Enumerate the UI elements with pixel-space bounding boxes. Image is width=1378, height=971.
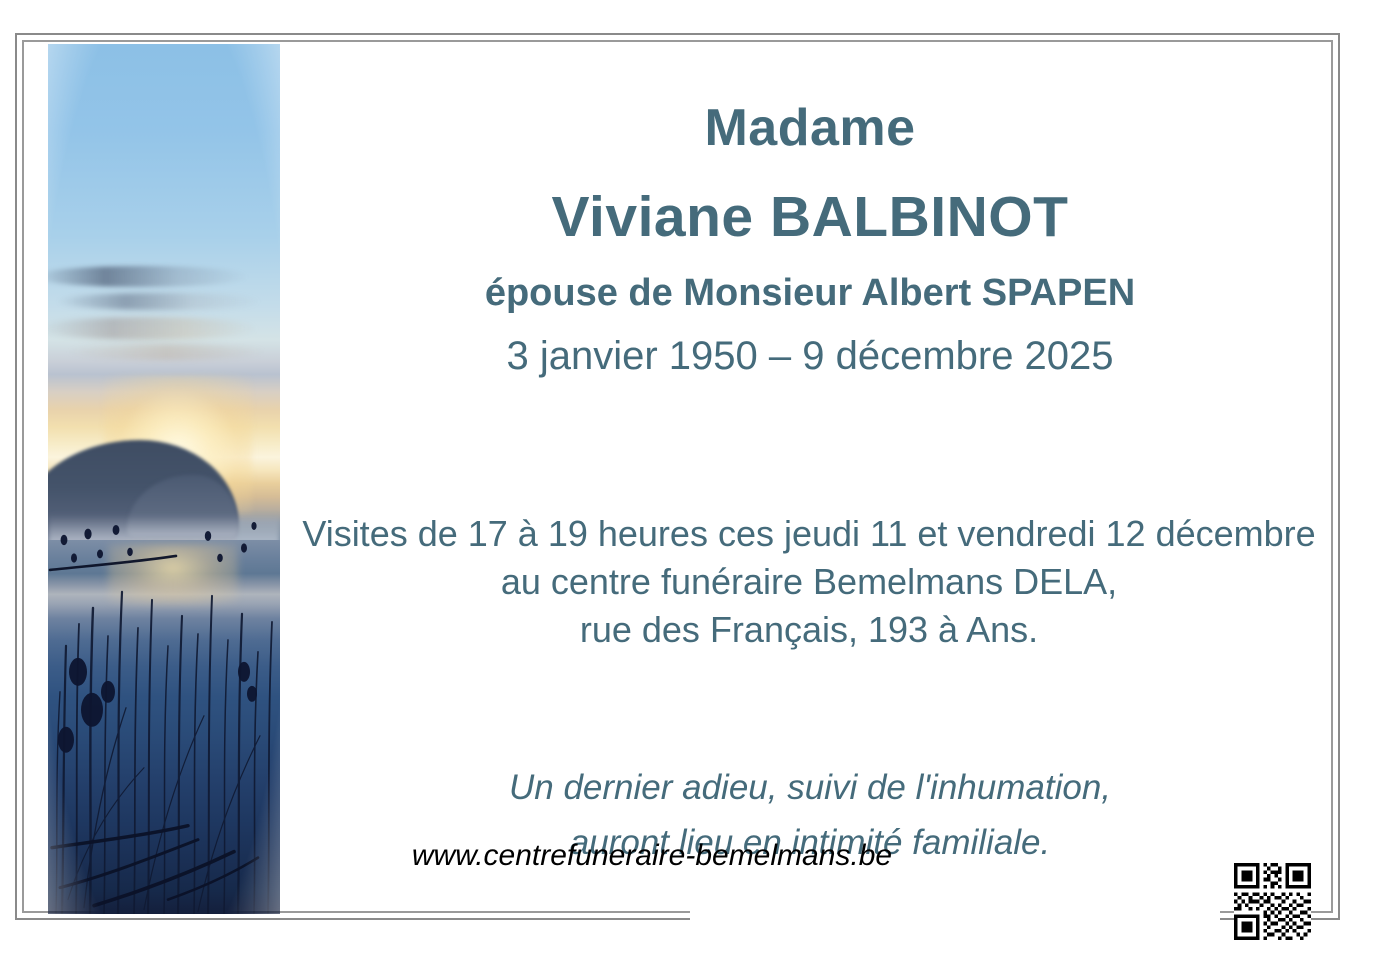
visit-line-1: Visites de 17 à 19 heures ces jeudi 11 e… xyxy=(278,510,1340,558)
reed-silhouettes xyxy=(48,496,280,914)
title-madame: Madame xyxy=(300,98,1320,158)
deceased-name: Viviane BALBINOT xyxy=(300,184,1320,250)
border-gap-url xyxy=(690,880,1220,928)
website-url[interactable]: www.centrefuneraire-bemelmans.be xyxy=(402,839,902,873)
visit-line-2: au centre funéraire Bemelmans DELA, xyxy=(278,558,1340,606)
qr-code[interactable] xyxy=(1234,863,1311,940)
closing-line-1: Un dernier adieu, suivi de l'inhumation, xyxy=(300,760,1320,815)
spouse-line: épouse de Monsieur Albert SPAPEN xyxy=(300,272,1320,315)
visit-line-3: rue des Français, 193 à Ans. xyxy=(278,606,1340,654)
announcement-text: Madame Viviane BALBINOT épouse de Monsie… xyxy=(300,44,1320,914)
life-dates: 3 janvier 1950 – 9 décembre 2025 xyxy=(300,334,1320,379)
announcement-card: Madame Viviane BALBINOT épouse de Monsie… xyxy=(0,0,1378,971)
visit-details: Visites de 17 à 19 heures ces jeudi 11 e… xyxy=(278,510,1340,654)
memorial-photo xyxy=(48,44,280,914)
